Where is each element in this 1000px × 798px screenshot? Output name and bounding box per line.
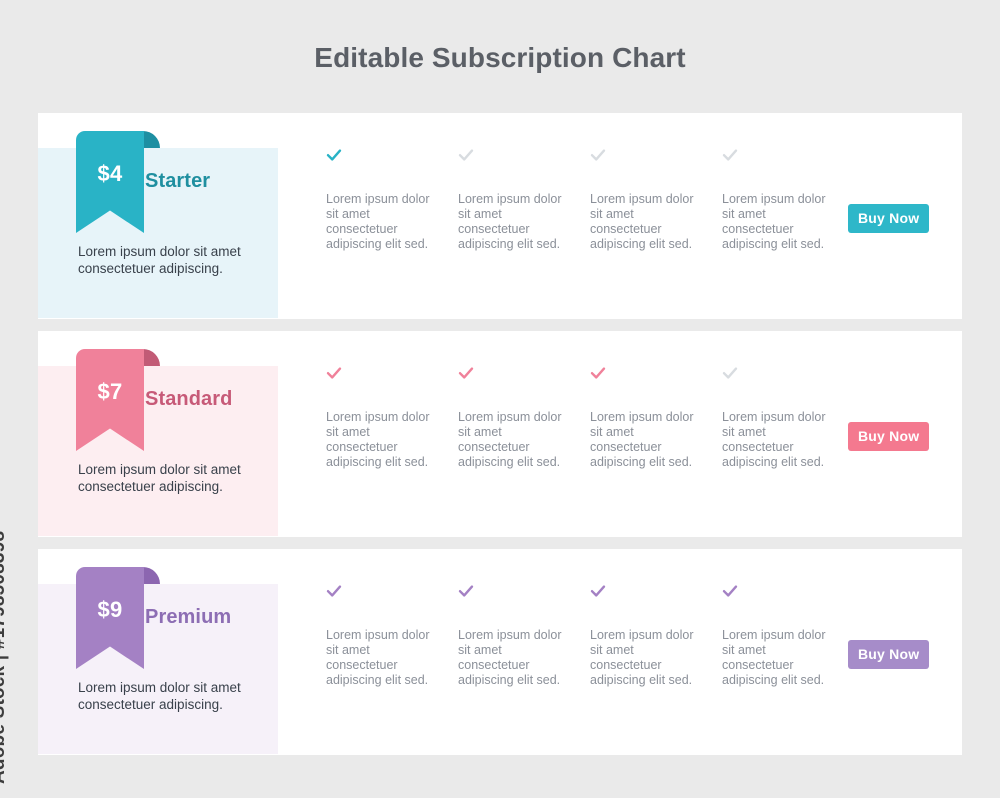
buy-now-button-standard[interactable]: Buy Now (848, 422, 929, 451)
feature-text: Lorem ipsum dolor sit amet consectetuer … (722, 410, 826, 470)
feature-column: Lorem ipsum dolor sit amet consectetuer … (326, 584, 430, 688)
plan-summary-panel: $7StandardLorem ipsum dolor sit amet con… (38, 366, 278, 536)
plan-price: $7 (76, 379, 144, 405)
feature-grid: Lorem ipsum dolor sit amet consectetuer … (326, 366, 866, 536)
check-icon (458, 584, 478, 604)
stock-watermark-label: Adobe Stock | #1798508398 (0, 531, 10, 784)
check-icon (458, 366, 478, 386)
plan-name: Premium (145, 606, 231, 629)
stock-watermark-rail: Adobe Stock | #1798508398 (0, 0, 38, 798)
check-icon (326, 366, 346, 386)
feature-column: Lorem ipsum dolor sit amet consectetuer … (590, 366, 694, 470)
plan-description: Lorem ipsum dolor sit amet consectetuer … (78, 461, 258, 495)
feature-column: Lorem ipsum dolor sit amet consectetuer … (458, 366, 562, 470)
plan-summary-panel: $4StarterLorem ipsum dolor sit amet cons… (38, 148, 278, 318)
feature-text: Lorem ipsum dolor sit amet consectetuer … (590, 410, 694, 470)
check-icon (326, 584, 346, 604)
feature-column: Lorem ipsum dolor sit amet consectetuer … (590, 584, 694, 688)
plan-card-premium: $9PremiumLorem ipsum dolor sit amet cons… (38, 549, 962, 755)
feature-text: Lorem ipsum dolor sit amet consectetuer … (458, 628, 562, 688)
feature-column: Lorem ipsum dolor sit amet consectetuer … (590, 148, 694, 252)
buy-now-button-starter[interactable]: Buy Now (848, 204, 929, 233)
check-icon (722, 584, 742, 604)
feature-text: Lorem ipsum dolor sit amet consectetuer … (590, 628, 694, 688)
feature-text: Lorem ipsum dolor sit amet consectetuer … (722, 192, 826, 252)
plan-price: $4 (76, 161, 144, 187)
page-title: Editable Subscription Chart (0, 42, 1000, 74)
check-icon (590, 584, 610, 604)
buy-now-button-premium[interactable]: Buy Now (848, 640, 929, 669)
plan-list: $4StarterLorem ipsum dolor sit amet cons… (38, 113, 962, 767)
check-icon (590, 366, 610, 386)
feature-text: Lorem ipsum dolor sit amet consectetuer … (326, 410, 430, 470)
feature-column: Lorem ipsum dolor sit amet consectetuer … (722, 148, 826, 252)
feature-column: Lorem ipsum dolor sit amet consectetuer … (722, 366, 826, 470)
plan-card-starter: $4StarterLorem ipsum dolor sit amet cons… (38, 113, 962, 319)
feature-column: Lorem ipsum dolor sit amet consectetuer … (326, 148, 430, 252)
plan-description: Lorem ipsum dolor sit amet consectetuer … (78, 679, 258, 713)
feature-text: Lorem ipsum dolor sit amet consectetuer … (326, 628, 430, 688)
check-icon-inactive (458, 148, 478, 168)
plan-description: Lorem ipsum dolor sit amet consectetuer … (78, 243, 258, 277)
plan-price: $9 (76, 597, 144, 623)
plan-card-standard: $7StandardLorem ipsum dolor sit amet con… (38, 331, 962, 537)
plan-name: Standard (145, 388, 232, 411)
feature-grid: Lorem ipsum dolor sit amet consectetuer … (326, 148, 866, 318)
check-icon-inactive (722, 366, 742, 386)
feature-column: Lorem ipsum dolor sit amet consectetuer … (458, 148, 562, 252)
feature-column: Lorem ipsum dolor sit amet consectetuer … (326, 366, 430, 470)
feature-column: Lorem ipsum dolor sit amet consectetuer … (722, 584, 826, 688)
plan-name: Starter (145, 170, 210, 193)
feature-text: Lorem ipsum dolor sit amet consectetuer … (458, 410, 562, 470)
feature-text: Lorem ipsum dolor sit amet consectetuer … (458, 192, 562, 252)
check-icon-inactive (590, 148, 610, 168)
feature-grid: Lorem ipsum dolor sit amet consectetuer … (326, 584, 866, 754)
feature-text: Lorem ipsum dolor sit amet consectetuer … (722, 628, 826, 688)
check-icon (326, 148, 346, 168)
plan-summary-panel: $9PremiumLorem ipsum dolor sit amet cons… (38, 584, 278, 754)
feature-text: Lorem ipsum dolor sit amet consectetuer … (326, 192, 430, 252)
check-icon-inactive (722, 148, 742, 168)
feature-text: Lorem ipsum dolor sit amet consectetuer … (590, 192, 694, 252)
feature-column: Lorem ipsum dolor sit amet consectetuer … (458, 584, 562, 688)
